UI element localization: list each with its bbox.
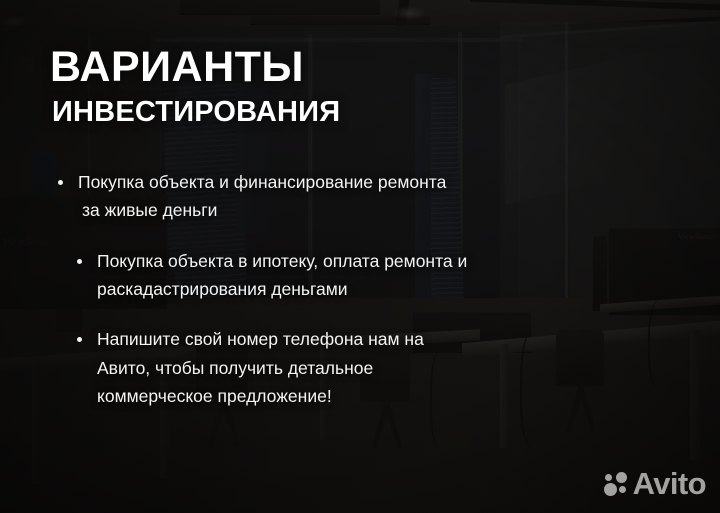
list-item-line1: Покупка объекта в ипотеку, оплата ремонт… [93, 247, 653, 275]
title-block: ВАРИАНТЫ ИНВЕСТИРОВАНИЯ [50, 46, 340, 127]
page-title: ВАРИАНТЫ [50, 46, 340, 89]
list-item-line1: Напишите свой номер телефона нам на [93, 325, 653, 353]
bullet-dot-icon [77, 337, 82, 342]
list-item-line2: раскадастрирования деньгами [93, 275, 653, 303]
avito-dot-small-top [605, 474, 612, 481]
list-item: Напишите свой номер телефона нам на Авит… [93, 325, 653, 410]
avito-dot-medium [616, 472, 627, 483]
avito-watermark: Avito [604, 468, 706, 501]
page-subtitle: ИНВЕСТИРОВАНИЯ [52, 98, 340, 127]
list-item: Покупка объекта и финансирование ремонта… [74, 168, 634, 225]
list-item-line1: Покупка объекта и финансирование ремонта [74, 168, 634, 196]
bullet-dot-icon [77, 259, 82, 264]
list-item: Покупка объекта в ипотеку, оплата ремонт… [93, 247, 653, 304]
list-item-line3: коммерческое предложение! [93, 382, 653, 410]
list-item-line2: Авито, чтобы получить детальное [93, 354, 653, 382]
bullet-list: Покупка объекта и финансирование ремонта… [0, 168, 720, 410]
slide-content: ВАРИАНТЫ ИНВЕСТИРОВАНИЯ Покупка объекта … [0, 0, 720, 513]
avito-wordmark: Avito [633, 468, 706, 501]
avito-dot-large [604, 483, 617, 496]
avito-dots-icon [604, 472, 630, 497]
bullet-dot-icon [58, 180, 63, 185]
promo-slide: ViewSonic ViewSonic ВА [0, 0, 720, 513]
list-item-line2: за живые деньги [74, 196, 634, 224]
avito-dot-small-bottom [619, 486, 626, 493]
